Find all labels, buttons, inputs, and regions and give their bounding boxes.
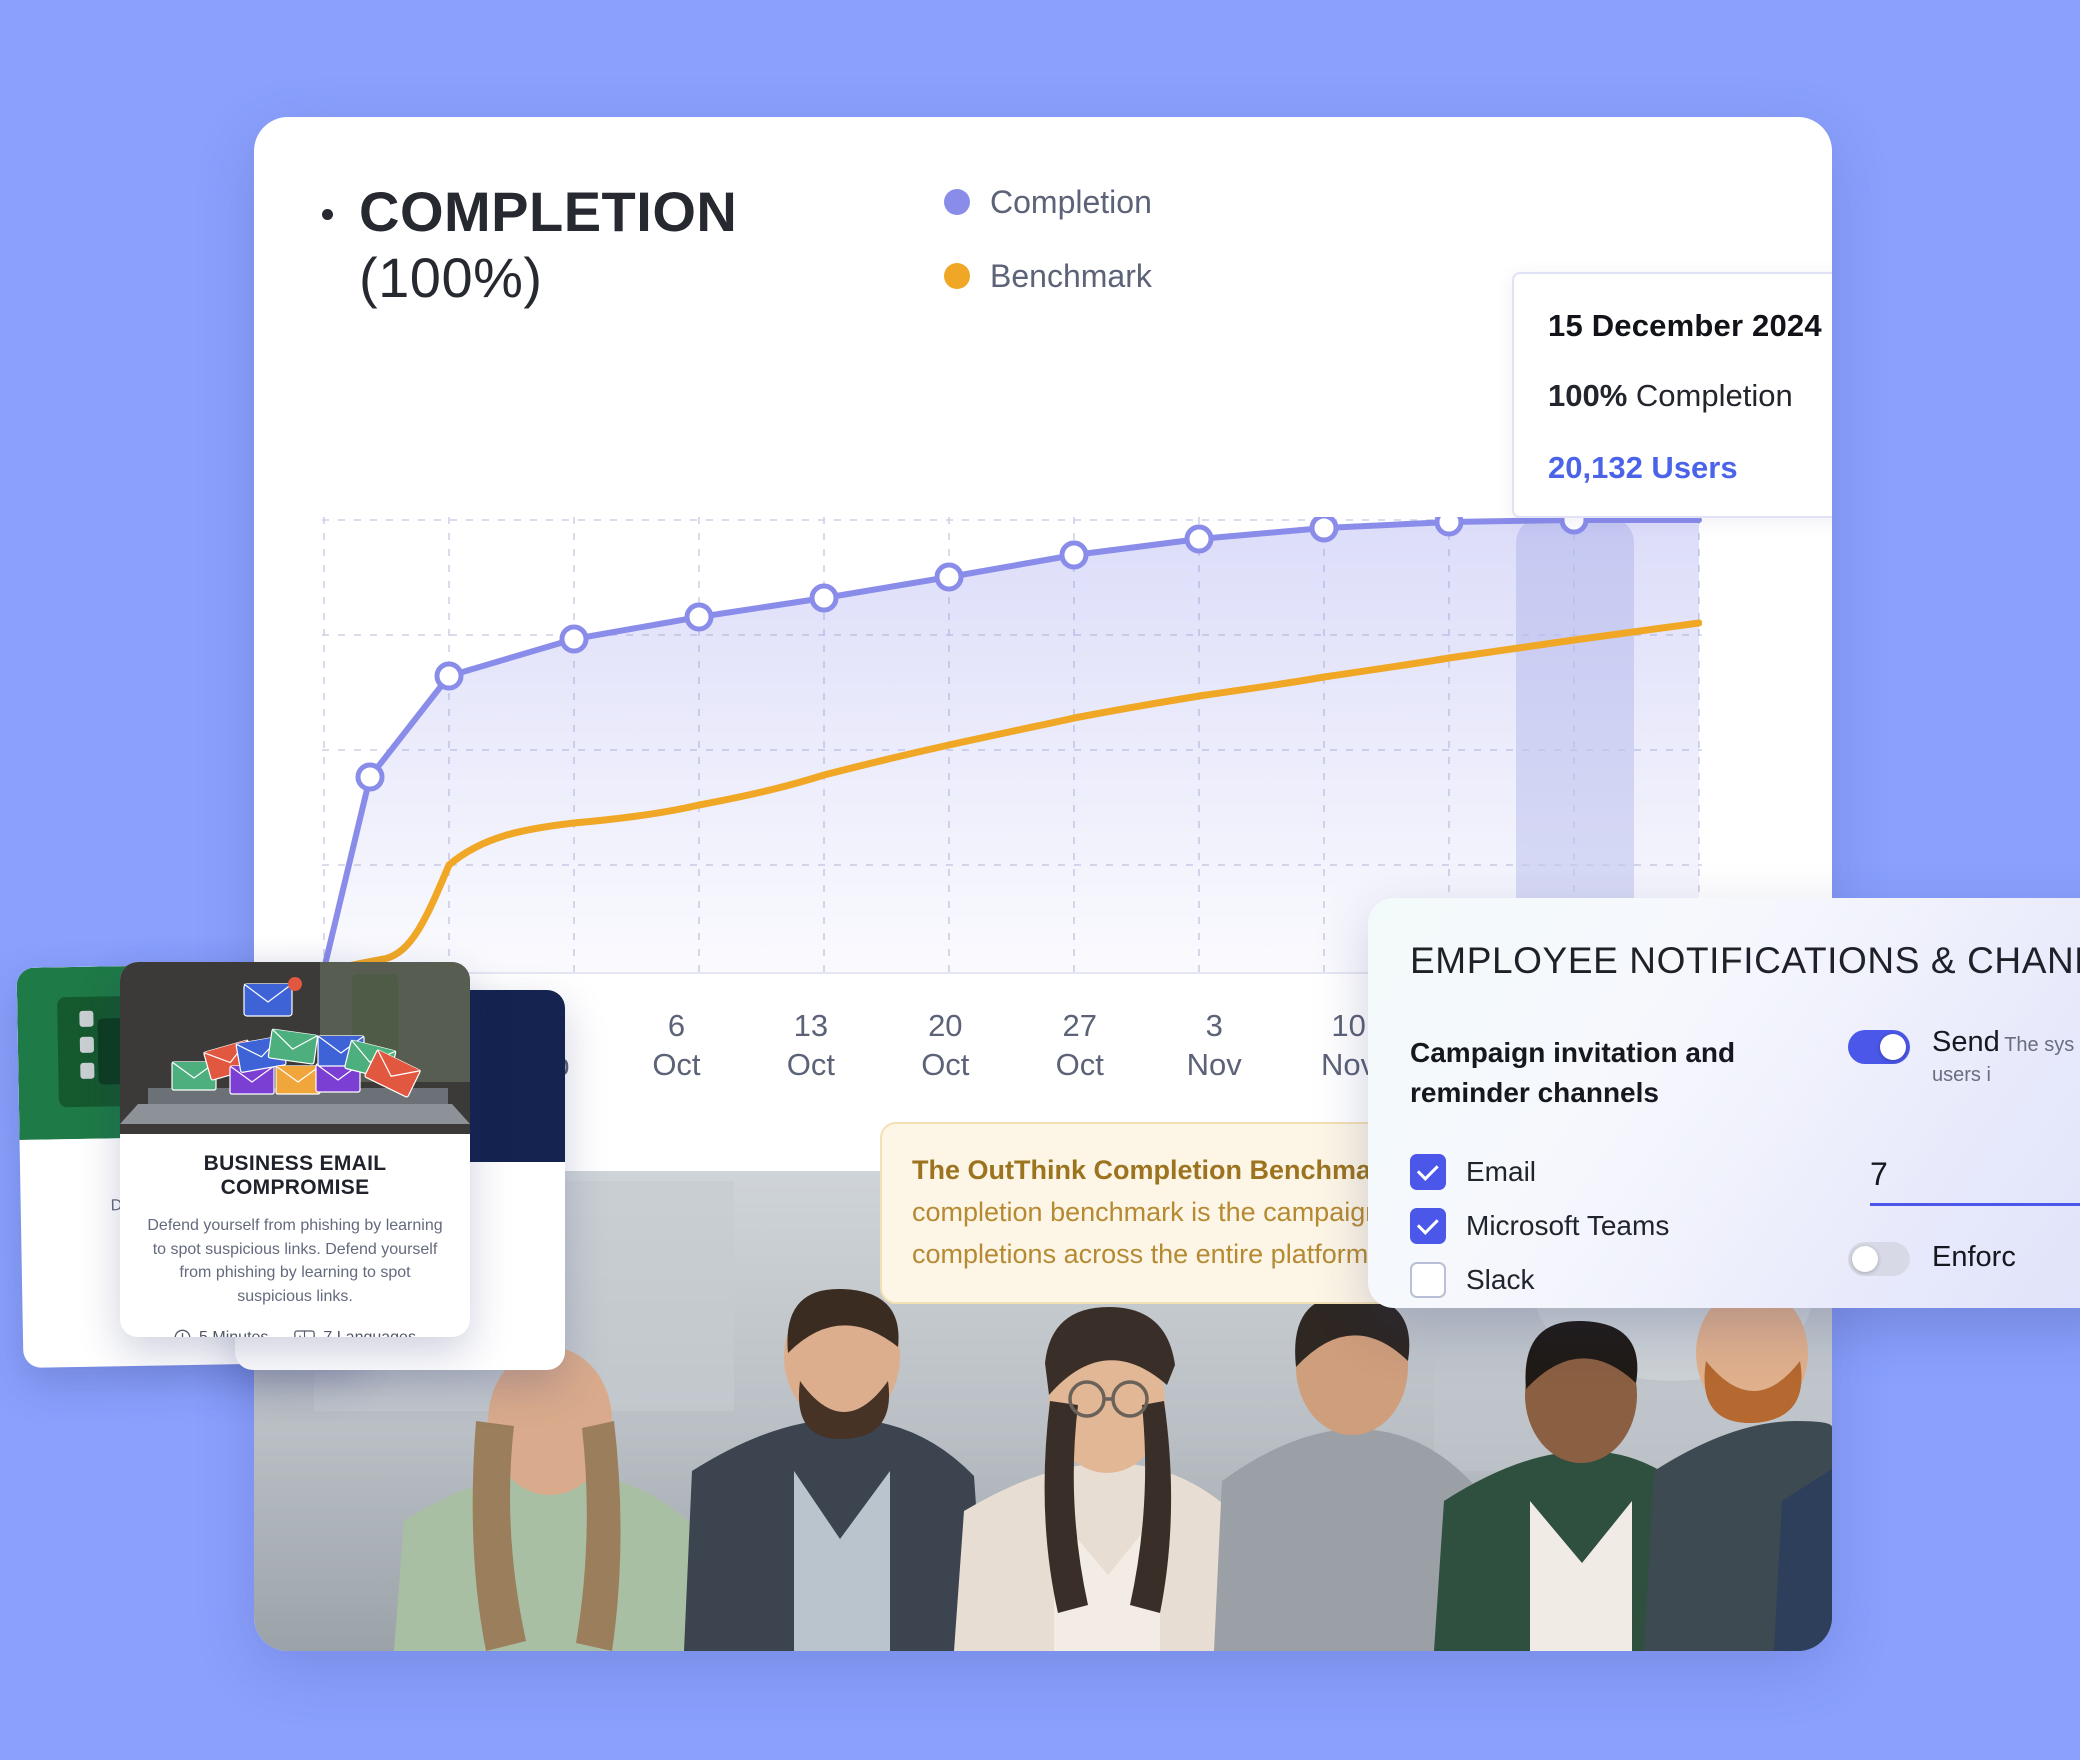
tooltip-users: 20,132 Users (1548, 450, 1832, 486)
legend-item-completion[interactable]: Completion (944, 165, 1152, 239)
channel-label-microsoft-teams: Microsoft Teams (1466, 1210, 1669, 1242)
notifications-panel-title: EMPLOYEE NOTIFICATIONS & CHANNELS (1410, 940, 2080, 982)
training-card-thumbnail (120, 962, 470, 1134)
training-card-description: Defend yourself from phishing by learnin… (140, 1214, 450, 1309)
legend-dot-benchmark-icon (944, 263, 970, 289)
notifications-send-section: Send The sys users i (1848, 1026, 2080, 1090)
title-line-2: (100%) (359, 245, 737, 311)
tooltip-completion: 100% Completion (1548, 378, 1832, 414)
checkbox-slack[interactable] (1410, 1262, 1446, 1298)
toggle-knob-icon (1880, 1034, 1906, 1060)
channel-option-microsoft-teams[interactable]: Microsoft Teams (1410, 1199, 1810, 1253)
notifications-subtitle: Campaign invitation and reminder channel… (1410, 1033, 1810, 1113)
enforce-toggle-row[interactable]: Enforc (1848, 1238, 2016, 1276)
chart-legend: Completion Benchmark (944, 165, 1152, 313)
channel-option-slack[interactable]: Slack (1410, 1253, 1810, 1307)
channel-option-email[interactable]: Email (1410, 1145, 1810, 1199)
toggle-knob-icon (1852, 1246, 1878, 1272)
reminder-number-value: 7 (1870, 1156, 2080, 1193)
toggle-send[interactable] (1848, 1030, 1910, 1064)
toggle-label-send: Send (1932, 1026, 2000, 1058)
translate-icon: A z (294, 1330, 315, 1337)
dashboard-card: COMPLETION (100%) Completion Benchmark 1… (254, 117, 1832, 1651)
reminder-number-field[interactable]: 7 (1870, 1156, 2080, 1206)
legend-item-benchmark[interactable]: Benchmark (944, 239, 1152, 313)
svg-text:A: A (298, 1334, 304, 1337)
field-underline (1870, 1203, 2080, 1206)
channel-label-slack: Slack (1466, 1264, 1534, 1296)
bullet-icon (322, 209, 333, 220)
x-tick: 20Oct (905, 1007, 985, 1085)
benchmark-callout-bold: The OutThink Completion Benchmark (912, 1155, 1397, 1185)
legend-dot-completion-icon (944, 189, 970, 215)
tooltip-date: 15 December 2024 (1548, 308, 1832, 344)
tooltip-completion-label: Completion (1627, 378, 1792, 413)
chart-tooltip: 15 December 2024 100% Completion 20,132 … (1512, 272, 1832, 518)
svg-text:z: z (307, 1334, 311, 1337)
x-tick: 27Oct (1040, 1007, 1120, 1085)
checkbox-email[interactable] (1410, 1154, 1446, 1190)
x-tick: 6Oct (636, 1007, 716, 1085)
training-card-title: BUSINESS EMAIL COMPROMISE (140, 1152, 450, 1200)
envelopes-pile-on-laptop-icon (120, 962, 470, 1134)
training-card-front[interactable]: BUSINESS EMAIL COMPROMISE Defend yoursel… (120, 962, 470, 1337)
x-tick: 13Oct (771, 1007, 851, 1085)
training-card-languages: A z 7 Languages (294, 1329, 416, 1337)
toggle-enforce[interactable] (1848, 1242, 1910, 1276)
legend-label-completion: Completion (990, 184, 1152, 221)
notifications-channels-section: Campaign invitation and reminder channel… (1410, 1033, 1810, 1307)
title-line-1: COMPLETION (359, 180, 737, 243)
legend-label-benchmark: Benchmark (990, 258, 1152, 295)
chart-header: COMPLETION (100%) Completion Benchmark 1… (254, 117, 1832, 397)
checkbox-microsoft-teams[interactable] (1410, 1208, 1446, 1244)
channel-label-email: Email (1466, 1156, 1536, 1188)
x-tick: 3Nov (1174, 1007, 1254, 1085)
employee-notifications-panel: EMPLOYEE NOTIFICATIONS & CHANNELS Campai… (1368, 898, 2080, 1308)
page-title: COMPLETION (100%) (322, 179, 737, 311)
toggle-label-enforce: Enforc (1932, 1241, 2016, 1274)
clock-icon (174, 1329, 191, 1337)
training-card-duration: 5 Minutes (174, 1329, 268, 1337)
tooltip-completion-value: 100% (1548, 378, 1627, 413)
